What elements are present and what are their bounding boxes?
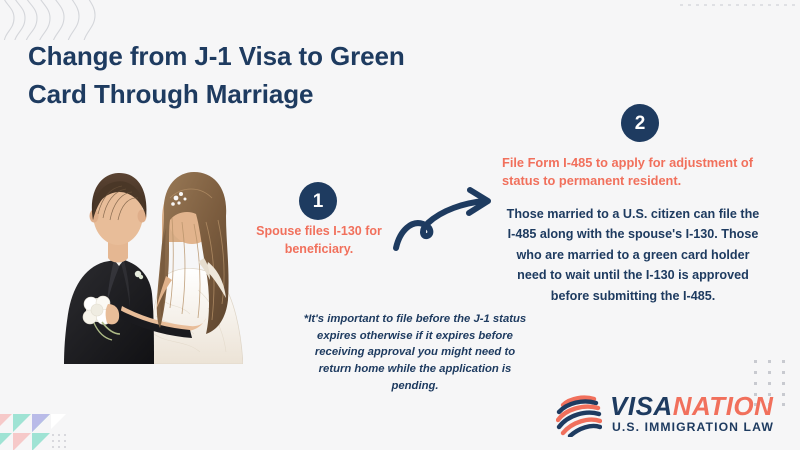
logo-wordmark: VISANATION — [610, 392, 773, 420]
logo-word-visa: VISA — [610, 391, 673, 421]
globe-icon — [556, 395, 602, 437]
footnote-text: *It's important to file before the J-1 s… — [300, 311, 530, 395]
curved-arrow-icon — [392, 186, 502, 256]
infographic-canvas: Change from J-1 Visa to Green Card Throu… — [0, 0, 800, 450]
step-2-number: 2 — [635, 114, 646, 133]
step-1-badge: 1 — [299, 182, 337, 220]
dotted-line-decoration — [680, 2, 800, 10]
page-title: Change from J-1 Visa to Green Card Throu… — [28, 38, 468, 113]
visanation-logo[interactable]: VISANATION U.S. IMMIGRATION LAW — [556, 392, 778, 442]
step-1-number: 1 — [313, 192, 324, 211]
page-title-line-2: Card Through Marriage — [28, 76, 468, 114]
logo-word-nation: NATION — [673, 391, 774, 421]
logo-tagline: U.S. IMMIGRATION LAW — [612, 420, 774, 434]
page-title-line-1: Change from J-1 Visa to Green — [28, 38, 468, 76]
step-2-badge: 2 — [621, 104, 659, 142]
step-2-body: Those married to a U.S. citizen can file… — [502, 204, 764, 306]
triangle-pattern-decoration — [0, 400, 66, 450]
wave-lines-decoration — [0, 0, 120, 40]
wedding-couple-illustration — [58, 158, 243, 364]
step-2-heading: File Form I-485 to apply for adjustment … — [502, 154, 764, 190]
step-1-caption: Spouse files I-130 for beneficiary. — [246, 222, 392, 258]
